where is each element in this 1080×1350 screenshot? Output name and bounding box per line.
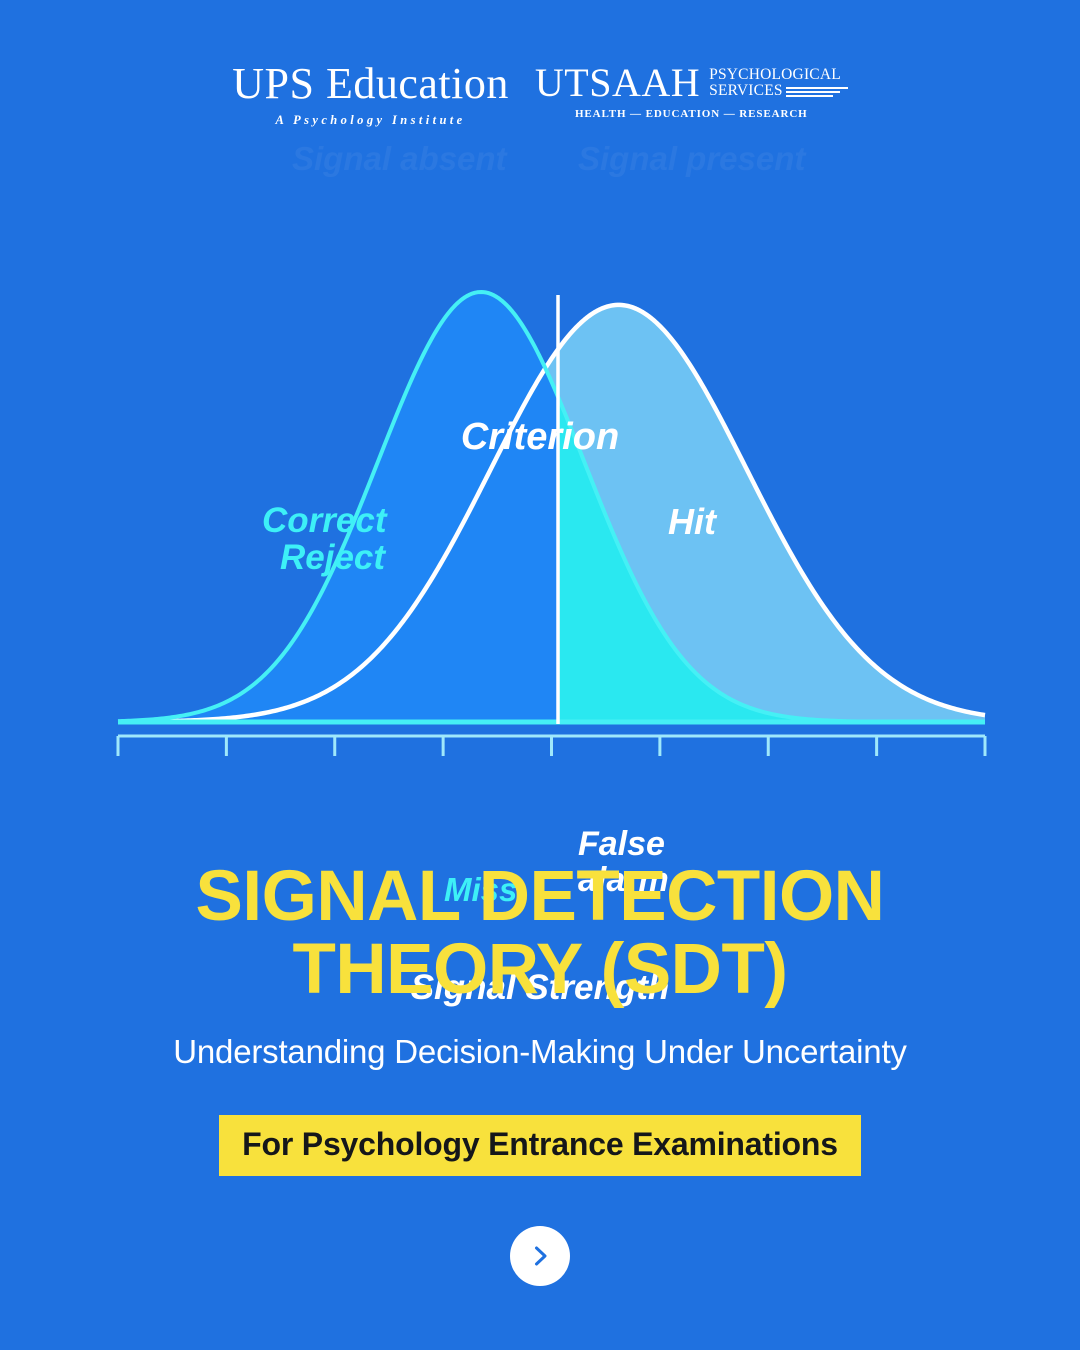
utsaah-logo-top: UTSAAH PSYCHOLOGICAL SERVICES (535, 64, 848, 102)
label-correct-reject-line1: Correct (262, 503, 386, 540)
label-correct-reject: Correct Reject (262, 503, 386, 577)
utsaah-logo-line2: SERVICES (709, 83, 783, 99)
utsaah-logo-line2-row: SERVICES (709, 83, 848, 99)
label-criterion: Criterion (0, 418, 1080, 458)
ghost-caption-signal-present: Signal present (578, 140, 805, 178)
x-axis (118, 736, 985, 756)
ghost-caption-signal-absent: Signal absent (292, 140, 507, 178)
poster-canvas: UPS Education A Psychology Institute UTS… (0, 0, 1080, 1350)
ribbon-wrap: For Psychology Entrance Examinations (0, 1115, 1080, 1176)
utsaah-logo-tagline: HEALTH — EDUCATION — RESEARCH (535, 108, 848, 120)
ups-logo-tagline: A Psychology Institute (232, 113, 509, 128)
utsaah-logo-line1: PSYCHOLOGICAL (709, 67, 848, 83)
page-title-line1: SIGNAL DETECTION (0, 860, 1080, 933)
next-slide-button[interactable] (510, 1226, 570, 1286)
ghost-caption-row: Signal absent Signal present (0, 140, 1080, 186)
logo-row: UPS Education A Psychology Institute UTS… (0, 62, 1080, 128)
chevron-right-icon (527, 1243, 553, 1269)
page-subtitle: Understanding Decision-Making Under Unce… (0, 1033, 1080, 1071)
ups-logo-name: UPS Education (232, 62, 509, 106)
utsaah-logo-word: UTSAAH (535, 64, 700, 102)
ups-education-logo: UPS Education A Psychology Institute (232, 62, 509, 128)
page-title: SIGNAL DETECTION THEORY (SDT) (0, 860, 1080, 1006)
utsaah-logo: UTSAAH PSYCHOLOGICAL SERVICES HEALTH — E… (535, 62, 848, 120)
utsaah-bars-icon (786, 87, 848, 97)
label-correct-reject-line2: Reject (280, 540, 386, 577)
utsaah-logo-right: PSYCHOLOGICAL SERVICES (709, 64, 848, 100)
audience-ribbon: For Psychology Entrance Examinations (219, 1115, 861, 1176)
label-hit: Hit (668, 503, 716, 541)
sdt-chart-svg (0, 200, 1080, 820)
sdt-chart: Criterion Correct Reject Hit Miss False … (0, 200, 1080, 820)
page-title-line2: THEORY (SDT) (0, 933, 1080, 1006)
